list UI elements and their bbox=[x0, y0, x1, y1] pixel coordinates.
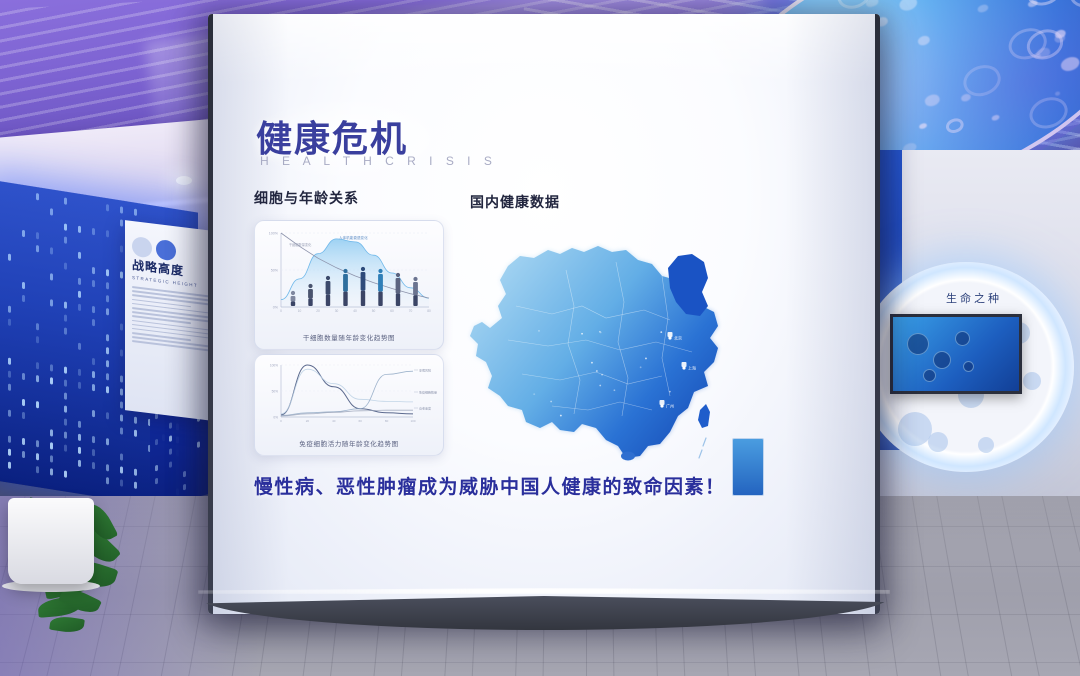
svg-text:10: 10 bbox=[298, 309, 302, 313]
exhibition-room-photo: 战略高度 STRATEGIC HEIGHT 生命之种 亚健康健康人群占比76%慢… bbox=[0, 0, 1080, 676]
svg-text:80: 80 bbox=[385, 419, 389, 423]
chart-caption-1: 干细胞数量随年龄变化趋势图 bbox=[255, 332, 443, 342]
cell-graphic bbox=[923, 369, 936, 382]
china-map-shape: 北京上海广州 bbox=[456, 210, 756, 500]
immune-cell-chart: 100%50%0%020406080100患病风险免疫细胞数量衰老速度 bbox=[255, 355, 443, 439]
svg-text:50%: 50% bbox=[272, 390, 279, 394]
immune-cell-chart-card: 100%50%0%020406080100患病风险免疫细胞数量衰老速度 免疫细胞… bbox=[254, 354, 444, 456]
panel-right-edge bbox=[875, 14, 880, 614]
svg-text:40: 40 bbox=[332, 419, 336, 423]
cell-graphic bbox=[963, 361, 974, 372]
led-dot bbox=[183, 484, 186, 491]
svg-text:100: 100 bbox=[410, 419, 415, 423]
cell-graphic bbox=[907, 333, 929, 355]
svg-text:80: 80 bbox=[427, 309, 431, 313]
led-dot bbox=[169, 448, 172, 455]
life-seed-title: 生命之种 bbox=[946, 290, 1002, 306]
svg-text:0%: 0% bbox=[273, 416, 278, 420]
plant-pot bbox=[8, 498, 94, 584]
molecule-graphic bbox=[898, 412, 932, 446]
cell-graphic bbox=[955, 331, 970, 346]
led-dot bbox=[155, 465, 158, 472]
svg-text:20: 20 bbox=[306, 419, 310, 423]
svg-text:上海: 上海 bbox=[688, 365, 696, 371]
china-map: 北京上海广州 bbox=[456, 210, 756, 500]
svg-text:30: 30 bbox=[335, 309, 339, 313]
svg-text:100%: 100% bbox=[269, 232, 279, 236]
svg-text:患病风险: 患病风险 bbox=[419, 368, 431, 373]
badge-circle-accent bbox=[156, 239, 176, 261]
svg-text:免疫细胞数量: 免疫细胞数量 bbox=[419, 390, 437, 395]
page-subtitle: H E A L T H C R I S I S bbox=[260, 154, 497, 168]
stem-cell-chart-card: 100%50%0%01020304050607080人体机能衰退变化干细胞数量变… bbox=[254, 220, 444, 350]
molecule-graphic bbox=[978, 437, 994, 453]
svg-text:70: 70 bbox=[409, 309, 413, 313]
led-dot bbox=[183, 471, 186, 478]
badge-circle bbox=[132, 236, 152, 258]
section-title-right: 国内健康数据 bbox=[470, 192, 560, 212]
svg-text:60: 60 bbox=[359, 419, 363, 423]
exhibition-panel: 健康危机 H E A L T H C R I S I S 细胞与年龄关系 国内健… bbox=[208, 14, 880, 614]
svg-text:50%: 50% bbox=[271, 269, 279, 273]
svg-text:人体机能衰退变化: 人体机能衰退变化 bbox=[339, 235, 368, 240]
downlight bbox=[176, 176, 192, 185]
svg-text:0: 0 bbox=[280, 419, 282, 423]
plant-leaf bbox=[49, 615, 85, 635]
svg-text:50: 50 bbox=[372, 309, 376, 313]
section-title-left: 细胞与年龄关系 bbox=[254, 188, 359, 208]
svg-text:40: 40 bbox=[353, 309, 357, 313]
led-dot bbox=[169, 435, 172, 442]
led-dot bbox=[155, 439, 158, 446]
led-dot bbox=[155, 478, 158, 485]
svg-text:100%: 100% bbox=[270, 364, 278, 368]
svg-text:0%: 0% bbox=[273, 306, 279, 310]
svg-text:0: 0 bbox=[280, 309, 282, 313]
molecule-graphic bbox=[1023, 372, 1041, 390]
svg-text:衰老速度: 衰老速度 bbox=[419, 406, 431, 411]
molecule-graphic bbox=[928, 432, 948, 452]
panel-left-edge bbox=[208, 14, 213, 614]
svg-text:60: 60 bbox=[390, 309, 394, 313]
cell-graphic bbox=[933, 351, 951, 369]
stem-cell-chart: 100%50%0%01020304050607080人体机能衰退变化干细胞数量变… bbox=[255, 221, 443, 333]
svg-text:干细胞数量变化: 干细胞数量变化 bbox=[289, 242, 312, 247]
svg-text:北京: 北京 bbox=[674, 335, 682, 341]
wall-display-screen[interactable]: 亚健康健康人群占比76%慢性病患病率占23%，死亡率占86%不明死亡的疾病中22… bbox=[890, 314, 1022, 394]
svg-text:广州: 广州 bbox=[666, 403, 674, 409]
svg-text:20: 20 bbox=[316, 309, 320, 313]
led-dot bbox=[169, 422, 172, 429]
chart-caption-2: 免疫细胞活力随年龄变化趋势图 bbox=[255, 438, 443, 448]
headline-text: 慢性病、恶性肿瘤成为威胁中国人健康的致命因素！ bbox=[254, 472, 726, 499]
led-dot bbox=[169, 461, 172, 468]
south-china-sea-inset bbox=[732, 438, 764, 496]
